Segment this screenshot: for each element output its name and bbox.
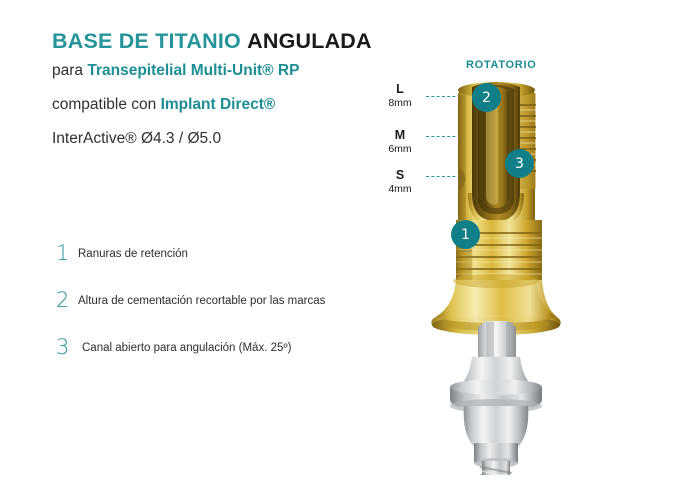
headline-block: BASE DE TITANIO ANGULADA para Transepite… xyxy=(52,28,412,156)
rotatorio-label: ROTATORIO xyxy=(466,59,536,71)
size-marker-small: S 4mm xyxy=(376,169,424,196)
legend-label: Canal abierto para angulación (Máx. 25º) xyxy=(82,341,291,355)
subtitle-prefix-compatible: compatible con xyxy=(52,96,161,113)
size-letter: L xyxy=(376,83,424,96)
legend-number: 3 xyxy=(56,336,69,358)
implant-illustration xyxy=(420,75,590,475)
subtitle-line-compatibility: para Transepitelial Multi-Unit® RP xyxy=(52,54,412,88)
list-item: 2 Altura de cementación recortable por l… xyxy=(52,289,382,336)
subtitle-line-diameters: InterActive® Ø4.3 / Ø5.0 xyxy=(52,122,412,156)
subtitle-prefix-para: para xyxy=(52,62,87,79)
legend-label: Altura de cementación recortable por las… xyxy=(78,294,325,308)
callout-badge-3[interactable]: 3 xyxy=(505,149,534,178)
subtitle-emphasis-multiunit: Transepitelial Multi-Unit® RP xyxy=(87,62,299,79)
callout-badge-2[interactable]: 2 xyxy=(472,83,501,112)
page-title-primary: BASE DE TITANIO xyxy=(52,29,241,53)
page-title-secondary: ANGULADA xyxy=(247,29,372,53)
list-item: 3 Canal abierto para angulación (Máx. 25… xyxy=(52,336,382,383)
subtitle-line-brand: compatible con Implant Direct® xyxy=(52,88,412,122)
size-letter: M xyxy=(376,129,424,142)
subtitle-emphasis-implantdirect: Implant Direct® xyxy=(161,96,276,113)
size-value: 6mm xyxy=(376,143,424,156)
page-title: BASE DE TITANIO ANGULADA xyxy=(52,28,412,54)
size-marker-medium: M 6mm xyxy=(376,129,424,156)
list-item: 1 Ranuras de retención xyxy=(52,242,382,289)
size-letter: S xyxy=(376,169,424,182)
silver-multiunit-abutment xyxy=(450,321,542,475)
legend-label: Ranuras de retención xyxy=(78,247,188,261)
size-value: 4mm xyxy=(376,183,424,196)
size-value: 8mm xyxy=(376,97,424,110)
legend-number: 2 xyxy=(56,289,69,311)
size-marker-large: L 8mm xyxy=(376,83,424,110)
callout-badge-1[interactable]: 1 xyxy=(451,220,480,249)
screw-thread xyxy=(480,461,512,475)
legend-list: 1 Ranuras de retención 2 Altura de cemen… xyxy=(52,242,382,383)
legend-number: 1 xyxy=(56,242,69,264)
